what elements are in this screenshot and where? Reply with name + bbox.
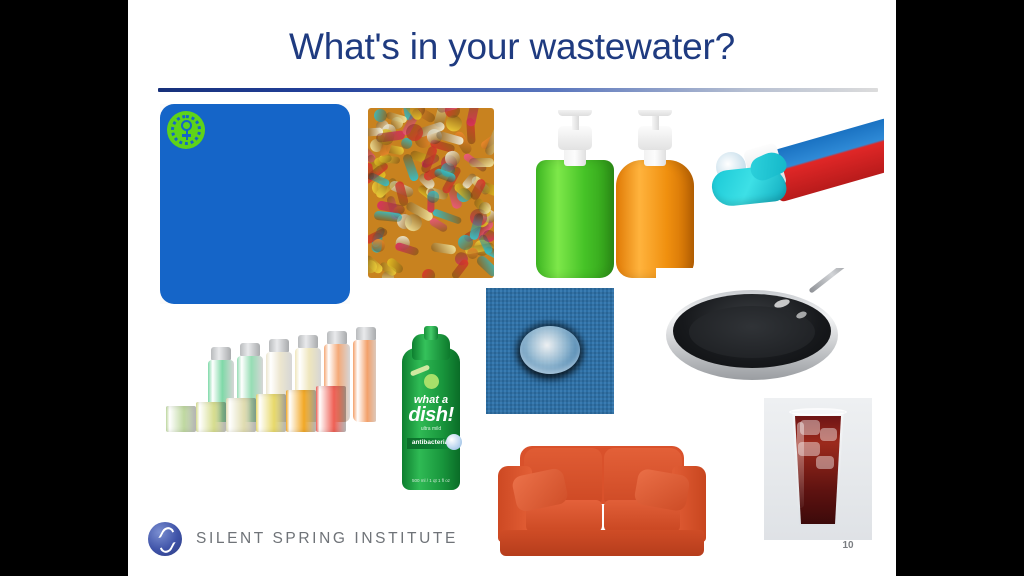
- pill-capsule: [466, 108, 481, 127]
- organization-name: SILENT SPRING INSTITUTE: [196, 530, 458, 548]
- glass-rim: [789, 408, 847, 416]
- pill-capsule: [451, 258, 471, 278]
- toilet-photo: [160, 104, 350, 304]
- pill-capsule: [469, 158, 494, 167]
- pill-capsule: [431, 242, 457, 255]
- dish-soap-volume-text: 500 ml / 1 qt 1 fl oz: [404, 478, 458, 483]
- dish-soap-label-line3: ultra mild: [394, 426, 468, 432]
- toothpaste-photo: [704, 108, 884, 228]
- pan-handle: [808, 268, 854, 294]
- glass-highlight: [797, 422, 804, 508]
- title-divider: [158, 88, 878, 92]
- pill-capsule: [475, 253, 494, 277]
- soap-bar: [196, 402, 226, 432]
- bubble-icon: [446, 434, 462, 450]
- soap-bottles-bars-photo: [160, 320, 376, 460]
- pill-tablet: [420, 266, 438, 278]
- green-soap-bottle: [536, 150, 614, 278]
- ice-cube: [820, 428, 837, 441]
- hormone-icon: [160, 104, 212, 156]
- venus-symbol-cross-icon: [182, 134, 191, 137]
- page-title: What's in your wastewater?: [128, 26, 896, 68]
- dish-soap-cap: [424, 326, 438, 340]
- soda-glass-photo: [764, 398, 872, 540]
- stain-resistant-fabric-photo: [486, 288, 614, 414]
- pills-photo: [368, 108, 494, 278]
- dish-soap-label-line2: dish!: [394, 404, 468, 427]
- pill-tablet: [446, 115, 463, 132]
- orange-pump-head: [638, 110, 672, 116]
- sofa-photo: [496, 438, 708, 560]
- soap-bottle-cap: [240, 343, 260, 356]
- soap-bar: [226, 398, 256, 432]
- orange-soap-bottle: [616, 150, 694, 278]
- green-soap-body: [536, 160, 614, 278]
- soap-bottle-cap: [269, 339, 289, 352]
- soap-bottle: [353, 340, 376, 422]
- soap-bar: [166, 406, 196, 432]
- page-number: 10: [828, 540, 868, 551]
- soap-bottle-cap: [298, 335, 318, 348]
- organization-logo: SILENT SPRING INSTITUTE: [148, 522, 458, 556]
- liquid-soap-photo: [528, 110, 696, 282]
- orange-soap-body: [616, 160, 694, 278]
- soap-bar: [316, 386, 346, 432]
- soap-bar: [256, 394, 286, 432]
- soap-bottle-cap: [211, 347, 231, 360]
- nonstick-pan-photo: [656, 268, 854, 396]
- silent-spring-swirl-icon: [148, 522, 182, 556]
- water-droplet: [520, 326, 580, 374]
- soap-bar: [286, 390, 316, 432]
- screen: What's in your wastewater?: [0, 0, 1024, 576]
- sofa-base: [500, 530, 704, 556]
- apple-icon: [424, 374, 439, 389]
- soap-bottle-cap: [327, 331, 347, 344]
- dish-soap-photo: what a dish! ultra mild antibacterial 50…: [394, 326, 470, 494]
- presentation-slide: What's in your wastewater?: [128, 0, 896, 576]
- soap-bottle-cap: [356, 327, 376, 340]
- green-pump-head: [558, 110, 592, 116]
- ice-cube: [816, 456, 834, 469]
- pill-capsule: [394, 242, 419, 256]
